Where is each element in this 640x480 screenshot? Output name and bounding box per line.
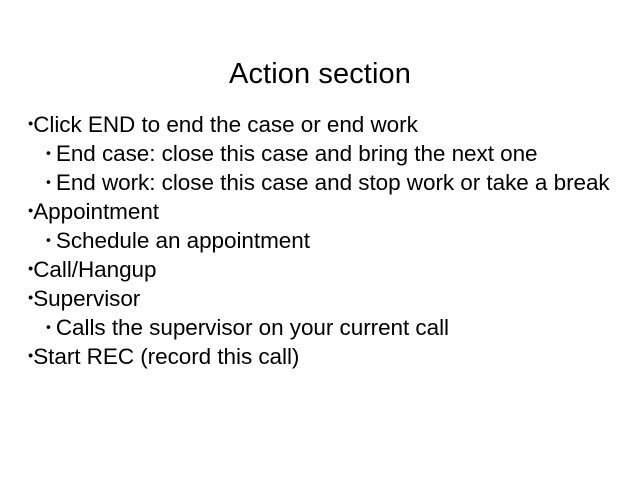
bullet-text: End case: close this case and bring the … [56, 139, 613, 168]
bullet-item-schedule-appointment: • Schedule an appointment [28, 226, 613, 255]
bullet-item-click-end: • Click END to end the case or end work [28, 110, 613, 139]
bullet-text: Schedule an appointment [56, 226, 613, 255]
presentation-slide: Action section • Click END to end the ca… [0, 0, 640, 480]
bullet-dot-icon: • [46, 139, 51, 168]
bullet-dot-icon: • [28, 255, 33, 284]
bullet-text: Supervisor [33, 284, 613, 313]
bullet-item-start-rec: • Start REC (record this call) [28, 342, 613, 371]
bullet-text: Calls the supervisor on your current cal… [56, 313, 613, 342]
bullet-dot-icon: • [28, 197, 33, 226]
bullet-text: Call/Hangup [33, 255, 613, 284]
bullet-dot-icon: • [46, 226, 51, 255]
bullet-text: Click END to end the case or end work [33, 110, 613, 139]
bullet-item-supervisor: • Supervisor [28, 284, 613, 313]
slide-title: Action section [40, 57, 600, 91]
bullet-item-calls-supervisor: • Calls the supervisor on your current c… [28, 313, 613, 342]
slide-body-bullet-list: • Click END to end the case or end work … [28, 110, 613, 371]
bullet-dot-icon: • [28, 284, 33, 313]
bullet-item-end-case: • End case: close this case and bring th… [28, 139, 613, 168]
bullet-dot-icon: • [46, 313, 51, 342]
bullet-item-call-hangup: • Call/Hangup [28, 255, 613, 284]
bullet-text: Appointment [33, 197, 613, 226]
bullet-dot-icon: • [28, 342, 33, 371]
bullet-dot-icon: • [28, 110, 33, 139]
bullet-dot-icon: • [46, 168, 51, 197]
bullet-text: Start REC (record this call) [33, 342, 613, 371]
bullet-text: End work: close this case and stop work … [56, 168, 613, 197]
bullet-item-appointment: • Appointment [28, 197, 613, 226]
bullet-item-end-work: • End work: close this case and stop wor… [28, 168, 613, 197]
